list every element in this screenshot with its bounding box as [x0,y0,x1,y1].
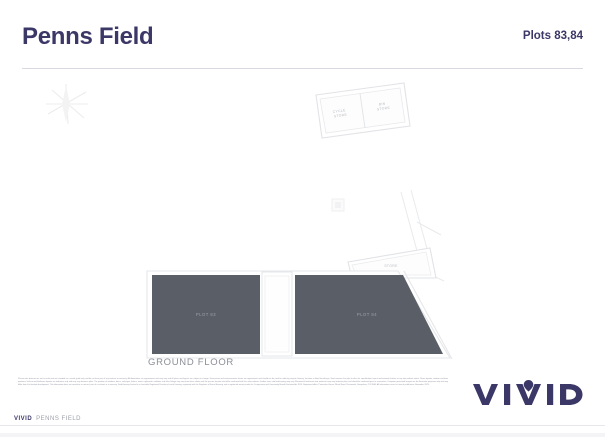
store-label: STORE [384,264,398,268]
disclaimer-text: Please note features are not to scale an… [18,378,448,387]
plot-84-block[interactable]: PLOT 84 [295,275,443,354]
vivid-logo [473,380,583,406]
shared-access-gap [262,272,292,356]
page-header: Penns Field Plots 83,84 [22,22,583,68]
small-square-feature-icon [332,199,344,211]
page-bottom-edge [0,433,605,437]
header-divider [22,68,583,69]
footer-divider [0,425,605,426]
plot-83-block[interactable]: PLOT 83 [152,275,260,354]
plot-84-label: PLOT 84 [357,312,377,317]
outbuilding-cycle-bin-store: CYCLE STORE BIN STORE [316,83,410,138]
site-plan-page: Penns Field Plots 83,84 CYCLE [0,0,605,437]
page-footer: Please note features are not to scale an… [0,374,605,437]
plots-label: Plots 83,84 [523,30,583,42]
site-plan-drawing: CYCLE STORE BIN STORE [0,72,605,368]
page-title: Penns Field [22,22,153,52]
north-compass-accent [62,86,70,122]
plot-83-label: PLOT 83 [196,312,216,317]
footer-brand-subtitle: PENNS FIELD [36,416,81,422]
ground-floor-label: GROUND FLOOR [148,357,234,368]
footer-brand: VIVIDPENNS FIELD [14,416,81,422]
footer-brand-mark: VIVID [14,416,32,422]
